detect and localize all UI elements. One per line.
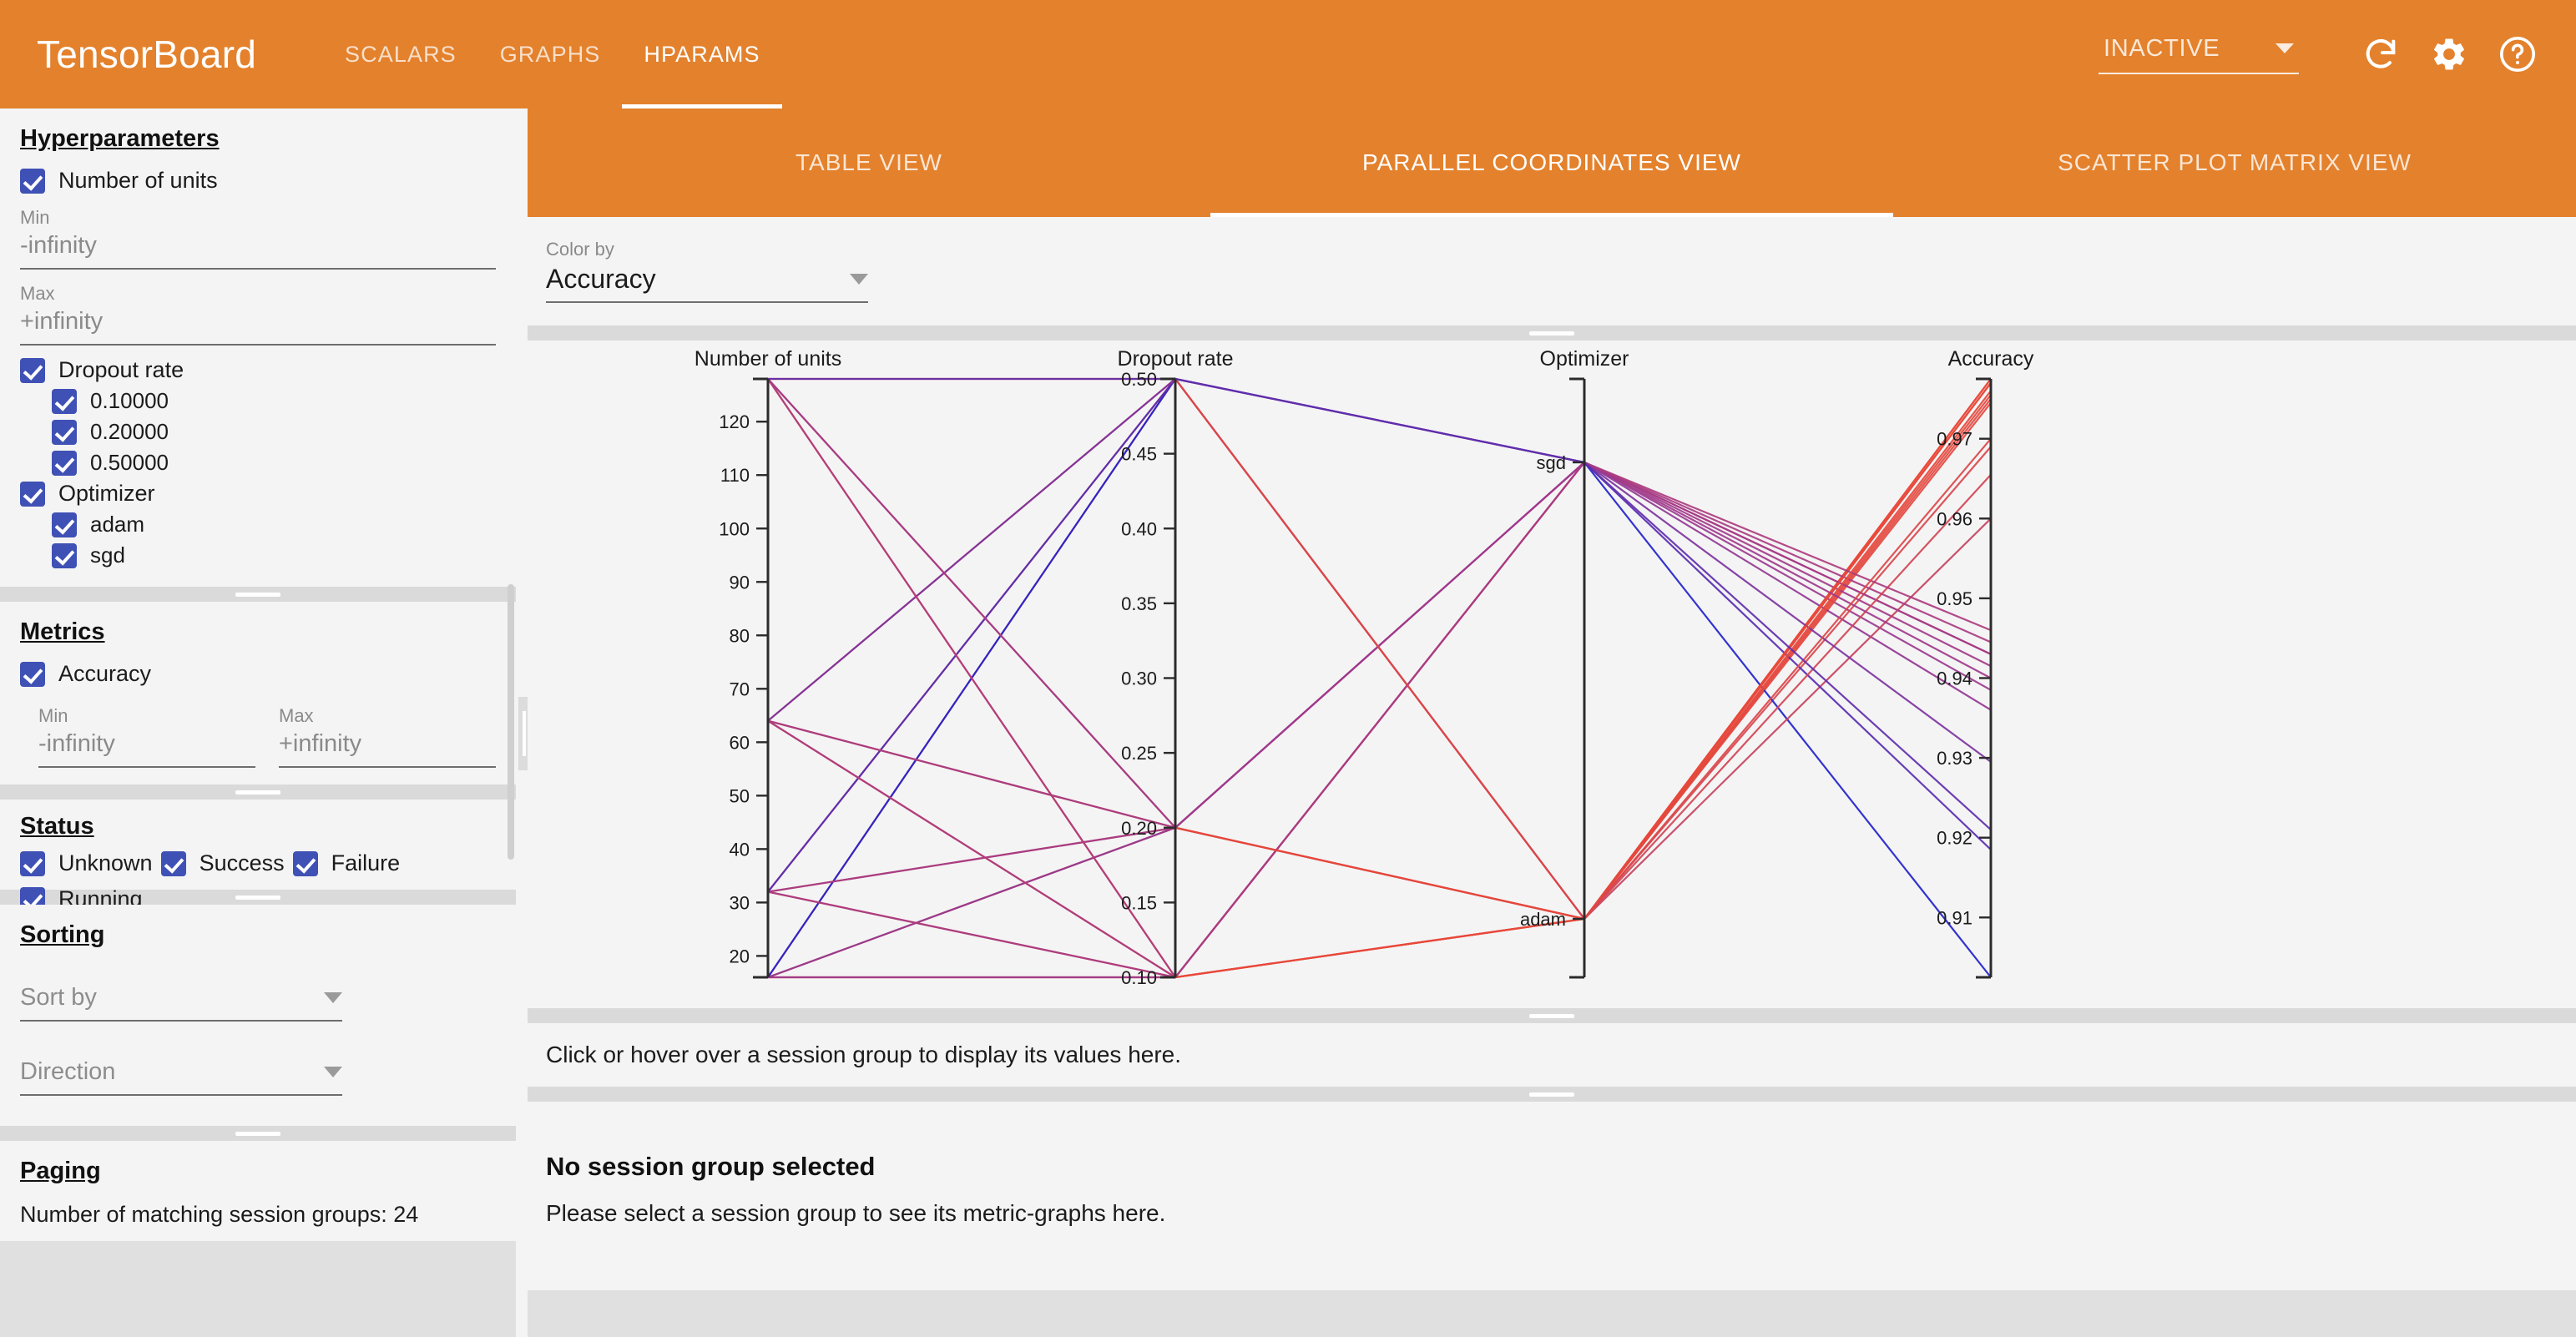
refresh-icon[interactable] bbox=[2356, 29, 2406, 79]
checkbox-row-success[interactable]: Success bbox=[161, 850, 285, 876]
direction-select[interactable]: Direction bbox=[20, 1058, 342, 1096]
checkbox-success[interactable] bbox=[161, 851, 186, 876]
pc-axis-tick-label: sgd bbox=[1537, 452, 1566, 473]
checkbox-label-dropout-0-2: 0.20000 bbox=[90, 419, 169, 445]
accuracy-max-value[interactable]: +infinity bbox=[279, 730, 496, 768]
pc-axis-tick-label: 70 bbox=[730, 679, 750, 699]
matching-session-groups-count: Number of matching session groups: 24 bbox=[20, 1202, 496, 1228]
checkbox-row-failure[interactable]: Failure bbox=[293, 850, 401, 876]
tab-parallel-coordinates-view[interactable]: PARALLEL COORDINATES VIEW bbox=[1210, 108, 1893, 217]
checkbox-optimizer-adam[interactable] bbox=[52, 512, 77, 537]
color-by-label: Color by bbox=[546, 239, 2558, 260]
pc-line[interactable] bbox=[768, 379, 1991, 977]
checkbox-label-dropout-rate: Dropout rate bbox=[58, 357, 184, 383]
pc-axis-title: Number of units bbox=[695, 347, 841, 371]
pc-line[interactable] bbox=[768, 395, 1991, 919]
panel-resize-handle-hover[interactable] bbox=[528, 1087, 2576, 1102]
chevron-down-icon bbox=[850, 274, 868, 285]
tensorboard-app: TensorBoard SCALARS GRAPHS HPARAMS INACT… bbox=[0, 0, 2576, 1337]
checkbox-row-dropout-0-1[interactable]: 0.10000 bbox=[20, 388, 496, 414]
pc-line[interactable] bbox=[768, 462, 1991, 892]
pc-axis-tick-label: 0.97 bbox=[1937, 429, 1972, 450]
pc-axis-tick-label: 0.20 bbox=[1121, 818, 1157, 839]
accuracy-max-field[interactable]: Max +infinity bbox=[279, 705, 496, 768]
grip-bar bbox=[523, 711, 526, 756]
checkbox-dropout-0-1[interactable] bbox=[52, 389, 77, 414]
pc-axis-tick-label: 0.45 bbox=[1121, 444, 1157, 465]
checkbox-label-unknown: Unknown bbox=[58, 850, 153, 876]
run-status-value: INACTIVE bbox=[2104, 35, 2220, 63]
checkbox-row-number-of-units[interactable]: Number of units bbox=[20, 168, 496, 194]
nav-tab-hparams[interactable]: HPARAMS bbox=[622, 0, 781, 108]
checkbox-failure[interactable] bbox=[293, 851, 318, 876]
pc-line[interactable] bbox=[768, 379, 1991, 977]
pc-axis-tick-label: 0.15 bbox=[1121, 892, 1157, 913]
panel-resize-handle-sorting[interactable] bbox=[0, 1126, 516, 1141]
checkbox-label-optimizer-sgd: sgd bbox=[90, 542, 125, 568]
checkbox-unknown[interactable] bbox=[20, 851, 45, 876]
pc-axis-tick-label: 0.91 bbox=[1937, 907, 1972, 928]
checkbox-row-optimizer-sgd[interactable]: sgd bbox=[20, 542, 496, 568]
pc-axis-tick-label: adam bbox=[1520, 909, 1566, 930]
checkbox-row-optimizer[interactable]: Optimizer bbox=[20, 481, 496, 507]
panel-resize-handle-chart[interactable] bbox=[528, 1008, 2576, 1023]
checkbox-row-accuracy[interactable]: Accuracy bbox=[20, 661, 496, 687]
checkbox-label-number-of-units: Number of units bbox=[58, 168, 218, 194]
pc-line[interactable] bbox=[768, 379, 1991, 828]
hyperparameters-panel: Hyperparameters Number of units Min -inf… bbox=[0, 108, 516, 587]
sidebar-scrollbar[interactable] bbox=[508, 584, 514, 860]
checkbox-label-optimizer-adam: adam bbox=[90, 512, 144, 537]
pc-axis-tick-label: 0.10 bbox=[1121, 967, 1157, 988]
main-nav: SCALARS GRAPHS HPARAMS bbox=[323, 0, 782, 108]
paging-heading: Paging bbox=[20, 1158, 101, 1185]
checkbox-row-unknown[interactable]: Unknown bbox=[20, 850, 153, 876]
left-sidebar: Hyperparameters Number of units Min -inf… bbox=[0, 108, 516, 1337]
pc-axis-title: Optimizer bbox=[1540, 347, 1629, 371]
pc-axis-tick-label: 90 bbox=[730, 572, 750, 593]
parallel-coordinates-svg[interactable]: Number of units2030405060708090100110120… bbox=[528, 341, 2576, 1008]
tab-scatter-plot-matrix-view[interactable]: SCATTER PLOT MATRIX VIEW bbox=[1893, 108, 2576, 217]
session-detail-card: No session group selected Please select … bbox=[528, 1102, 2576, 1290]
chevron-down-icon bbox=[324, 992, 342, 1003]
pc-line[interactable] bbox=[768, 379, 1991, 977]
color-by-select[interactable]: Accuracy bbox=[546, 264, 868, 303]
pc-axis-tick-label: 100 bbox=[719, 518, 750, 539]
pc-axis-title: Accuracy bbox=[1948, 347, 2034, 371]
direction-placeholder: Direction bbox=[20, 1058, 115, 1086]
grip-bar bbox=[1529, 1014, 1574, 1018]
pc-axis-tick-label: 50 bbox=[730, 785, 750, 806]
pc-axis-tick-label: 0.95 bbox=[1937, 588, 1972, 609]
accuracy-max-label: Max bbox=[279, 705, 496, 727]
tab-table-view[interactable]: TABLE VIEW bbox=[528, 108, 1210, 217]
pc-axis-tick-label: 0.96 bbox=[1937, 508, 1972, 529]
pc-axis-tick-label: 0.40 bbox=[1121, 518, 1157, 539]
help-icon[interactable] bbox=[2493, 29, 2543, 79]
nav-tab-graphs[interactable]: GRAPHS bbox=[478, 0, 623, 108]
checkbox-dropout-0-5[interactable] bbox=[52, 451, 77, 476]
pc-line[interactable] bbox=[768, 403, 1991, 977]
nav-tab-scalars[interactable]: SCALARS bbox=[323, 0, 478, 108]
session-hover-hint: Click or hover over a session group to d… bbox=[546, 1042, 1181, 1068]
number-of-units-min-field[interactable]: Min -infinity bbox=[20, 207, 496, 270]
chevron-down-icon bbox=[2275, 43, 2294, 53]
sort-by-select[interactable]: Sort by bbox=[20, 984, 342, 1022]
max-value[interactable]: +infinity bbox=[20, 308, 496, 346]
panel-resize-handle-color-by[interactable] bbox=[528, 325, 2576, 341]
pc-line[interactable] bbox=[768, 379, 1991, 977]
pc-axis-tick-label: 0.93 bbox=[1937, 748, 1972, 769]
metrics-panel: Metrics Accuracy Min -infinity Max +infi… bbox=[0, 602, 516, 785]
pc-axis-title: Dropout rate bbox=[1118, 347, 1234, 371]
checkbox-row-dropout-rate[interactable]: Dropout rate bbox=[20, 357, 496, 383]
pc-axis-tick-label: 40 bbox=[730, 839, 750, 860]
checkbox-row-dropout-0-5[interactable]: 0.50000 bbox=[20, 450, 496, 476]
checkbox-label-dropout-0-1: 0.10000 bbox=[90, 388, 169, 414]
top-bar-actions: INACTIVE bbox=[2099, 29, 2543, 79]
pc-axis-tick-label: 0.30 bbox=[1121, 668, 1157, 689]
pc-axis-tick-label: 60 bbox=[730, 732, 750, 753]
checkbox-row-optimizer-adam[interactable]: adam bbox=[20, 512, 496, 537]
accuracy-min-label: Min bbox=[38, 705, 255, 727]
grip-bar bbox=[235, 1132, 280, 1136]
chevron-down-icon bbox=[324, 1067, 342, 1077]
grip-bar bbox=[1529, 1092, 1574, 1097]
sort-by-placeholder: Sort by bbox=[20, 984, 97, 1012]
metrics-range-row: Min -infinity Max +infinity bbox=[20, 692, 496, 771]
color-by-value: Accuracy bbox=[546, 264, 656, 295]
checkbox-label-optimizer: Optimizer bbox=[58, 481, 155, 507]
pc-line[interactable] bbox=[768, 379, 1991, 977]
checkbox-dropout-0-2[interactable] bbox=[52, 420, 77, 445]
grip-bar bbox=[235, 790, 280, 795]
grip-bar bbox=[235, 593, 280, 597]
top-app-bar: TensorBoard SCALARS GRAPHS HPARAMS INACT… bbox=[0, 0, 2576, 108]
color-by-card: Color by Accuracy bbox=[528, 217, 2576, 325]
pc-line[interactable] bbox=[768, 379, 1991, 830]
pc-line[interactable] bbox=[768, 379, 1991, 762]
min-value[interactable]: -infinity bbox=[20, 232, 496, 270]
number-of-units-max-field[interactable]: Max +infinity bbox=[20, 283, 496, 346]
pc-axis-tick-label: 0.92 bbox=[1937, 828, 1972, 849]
sorting-heading: Sorting bbox=[20, 921, 105, 949]
checkbox-label-success: Success bbox=[200, 850, 285, 876]
grip-bar bbox=[1529, 331, 1574, 336]
checkbox-optimizer-sgd[interactable] bbox=[52, 543, 77, 568]
checkbox-label-dropout-0-5: 0.50000 bbox=[90, 450, 169, 476]
accuracy-min-field[interactable]: Min -infinity bbox=[38, 705, 255, 768]
session-detail-subtitle: Please select a session group to see its… bbox=[546, 1200, 2558, 1227]
metrics-heading: Metrics bbox=[20, 618, 105, 646]
pc-axis-tick-label: 0.50 bbox=[1121, 369, 1157, 390]
pc-axis-tick-label: 0.35 bbox=[1121, 593, 1157, 614]
max-label: Max bbox=[20, 283, 496, 305]
app-title: TensorBoard bbox=[37, 32, 256, 77]
pc-axis-tick-label: 110 bbox=[720, 465, 750, 486]
checkbox-accuracy[interactable] bbox=[20, 662, 45, 687]
main-content: TABLE VIEW PARALLEL COORDINATES VIEW SCA… bbox=[528, 108, 2576, 1337]
parallel-coordinates-chart[interactable]: Number of units2030405060708090100110120… bbox=[528, 341, 2576, 1008]
paging-panel: Paging Number of matching session groups… bbox=[0, 1141, 516, 1241]
sorting-panel: Sorting Sort by Direction bbox=[0, 905, 516, 1126]
accuracy-min-value[interactable]: -infinity bbox=[38, 730, 255, 768]
pc-axis-tick-label: 80 bbox=[730, 625, 750, 646]
pc-axis-tick-label: 20 bbox=[730, 946, 750, 966]
view-tabs: TABLE VIEW PARALLEL COORDINATES VIEW SCA… bbox=[528, 108, 2576, 217]
session-detail-title: No session group selected bbox=[546, 1152, 2558, 1182]
min-label: Min bbox=[20, 207, 496, 229]
session-hover-hint-card: Click or hover over a session group to d… bbox=[528, 1023, 2576, 1087]
status-heading: Status bbox=[20, 813, 94, 840]
pc-line[interactable] bbox=[768, 383, 1991, 977]
checkbox-optimizer[interactable] bbox=[20, 482, 45, 507]
checkbox-dropout-rate[interactable] bbox=[20, 358, 45, 383]
panel-resize-handle-hyperparameters[interactable] bbox=[0, 587, 516, 602]
status-panel: Status Unknown Success Failure bbox=[0, 800, 516, 890]
pc-axis-tick-label: 0.94 bbox=[1937, 668, 1972, 689]
checkbox-number-of-units[interactable] bbox=[20, 169, 45, 194]
panel-resize-handle-metrics[interactable] bbox=[0, 785, 516, 800]
hyperparameters-heading: Hyperparameters bbox=[20, 125, 220, 153]
pc-axis-tick-label: 30 bbox=[730, 892, 750, 913]
checkbox-label-failure: Failure bbox=[331, 850, 401, 876]
pc-axis-tick-label: 120 bbox=[719, 411, 750, 432]
pc-line[interactable] bbox=[768, 379, 1991, 977]
run-status-select[interactable]: INACTIVE bbox=[2099, 35, 2299, 74]
gear-icon[interactable] bbox=[2424, 29, 2474, 79]
checkbox-row-dropout-0-2[interactable]: 0.20000 bbox=[20, 419, 496, 445]
pc-axis-tick-label: 0.25 bbox=[1121, 743, 1157, 764]
checkbox-label-accuracy: Accuracy bbox=[58, 661, 151, 687]
